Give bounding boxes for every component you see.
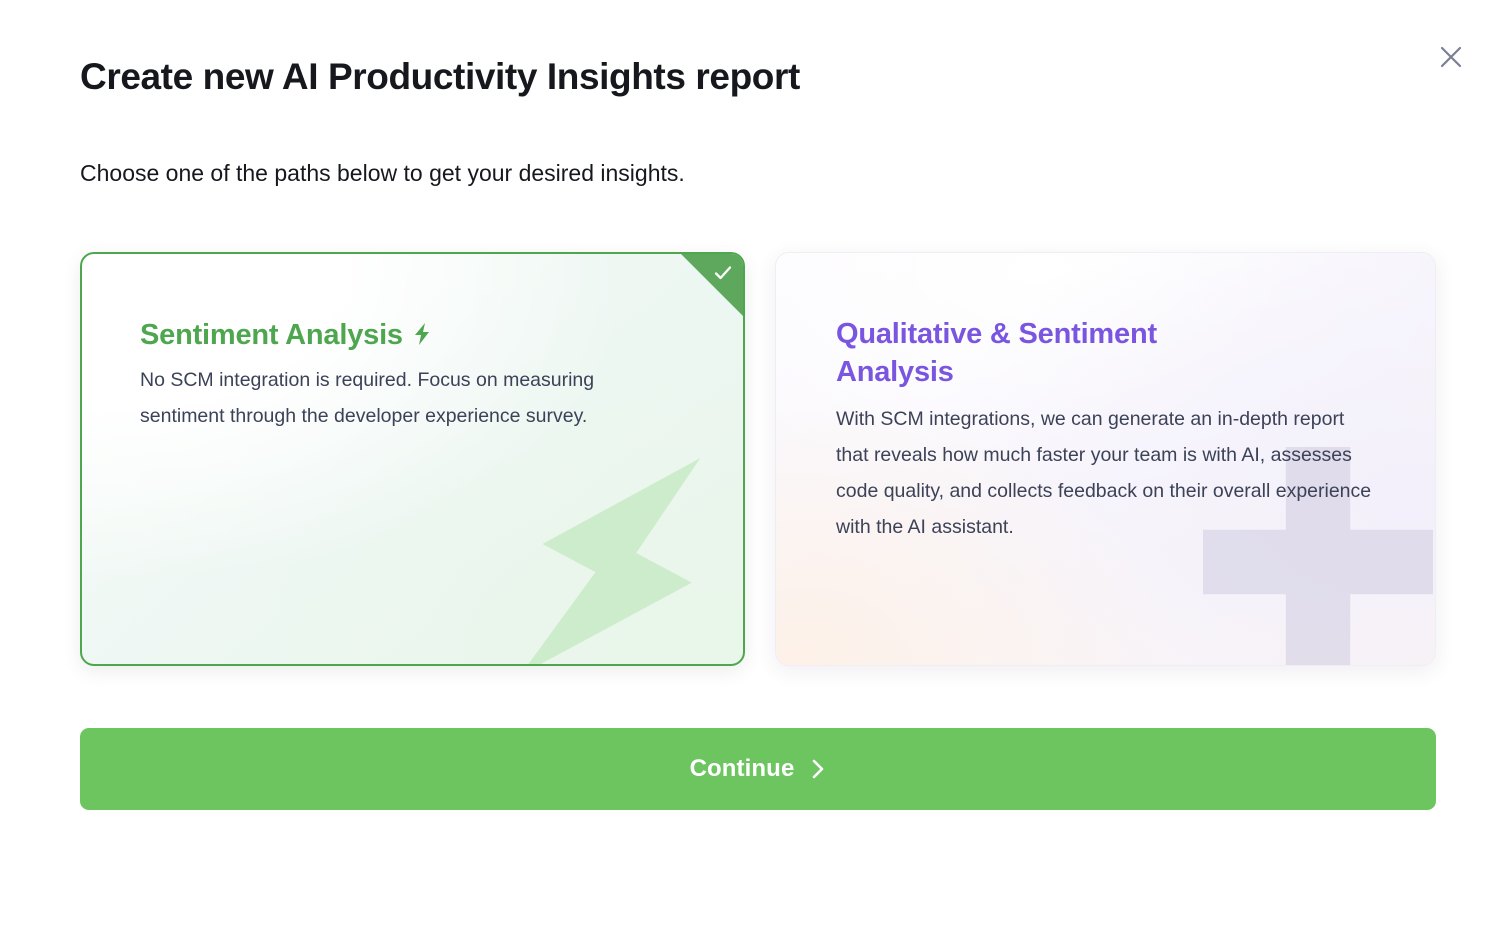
ribbon-triangle bbox=[681, 254, 743, 316]
card-title-text: Sentiment Analysis bbox=[140, 316, 403, 354]
lightning-bolt-watermark bbox=[467, 420, 745, 666]
path-card-qualitative-sentiment-analysis[interactable]: Qualitative & Sentiment Analysis With SC… bbox=[775, 252, 1436, 666]
continue-button[interactable]: Continue bbox=[80, 728, 1436, 810]
create-report-dialog: Create new AI Productivity Insights repo… bbox=[0, 0, 1512, 936]
path-options: Sentiment Analysis No SCM integration is… bbox=[80, 252, 1436, 666]
card-description: With SCM integrations, we can generate a… bbox=[836, 401, 1373, 545]
chevron-right-icon bbox=[810, 758, 826, 780]
card-title: Qualitative & Sentiment Analysis bbox=[836, 315, 1266, 391]
close-icon[interactable] bbox=[1426, 32, 1476, 82]
lightning-bolt-icon bbox=[412, 318, 432, 356]
selected-ribbon bbox=[681, 254, 743, 316]
card-body: Sentiment Analysis No SCM integration is… bbox=[140, 316, 699, 434]
path-card-sentiment-analysis[interactable]: Sentiment Analysis No SCM integration is… bbox=[80, 252, 745, 666]
page-title: Create new AI Productivity Insights repo… bbox=[80, 52, 800, 102]
continue-button-label: Continue bbox=[690, 755, 795, 783]
card-body: Qualitative & Sentiment Analysis With SC… bbox=[836, 315, 1373, 545]
page-subtitle: Choose one of the paths below to get you… bbox=[80, 158, 685, 188]
check-icon bbox=[713, 263, 733, 283]
card-title: Sentiment Analysis bbox=[140, 316, 699, 354]
card-description: No SCM integration is required. Focus on… bbox=[140, 362, 640, 434]
